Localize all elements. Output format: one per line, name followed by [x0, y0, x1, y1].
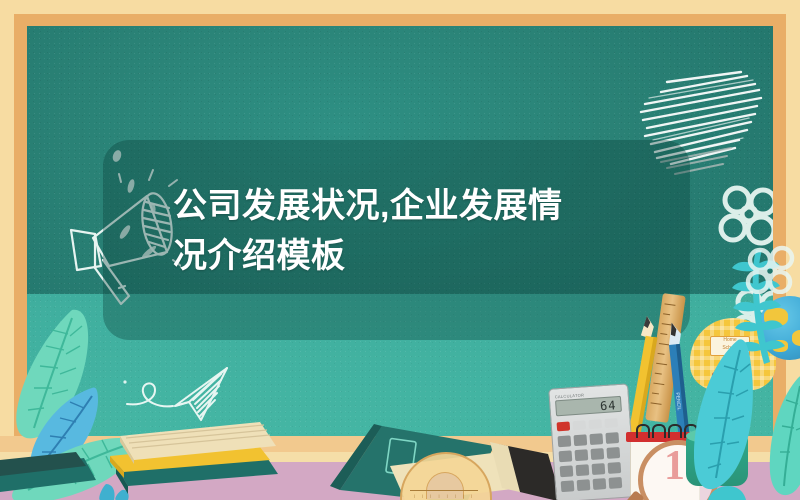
- svg-text:PENCIL: PENCIL: [674, 392, 682, 411]
- flower-chalk-right-edge-icon: [744, 244, 800, 294]
- book-stack-left: [106, 414, 306, 500]
- calculator: CALCULATOR 64: [548, 383, 634, 500]
- page-title: 公司发展状况,企业发展情况介绍模板: [173, 181, 573, 281]
- protractor: | | | | | | | |: [400, 452, 488, 498]
- book-dark-left: [0, 452, 120, 500]
- poster-canvas: 公司发展状况,企业发展情况介绍模板: [0, 0, 800, 500]
